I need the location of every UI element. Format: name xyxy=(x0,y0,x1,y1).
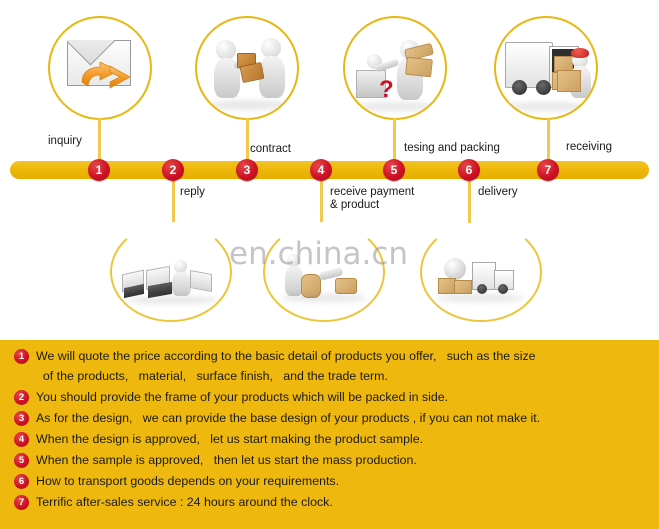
stage-label-contract: contract xyxy=(250,143,291,156)
timeline-marker-3[interactable]: 3 xyxy=(236,159,258,181)
notes-list: 1 We will quote the price according to t… xyxy=(14,346,653,513)
delivery-wheel-2-icon xyxy=(498,284,508,294)
truck-wheel-icon xyxy=(512,80,527,95)
forward-arrow-icon xyxy=(80,62,132,92)
office-worker-body-icon xyxy=(172,272,191,296)
logistics-box-2-icon xyxy=(454,280,472,294)
note-text-1: We will quote the price according to the… xyxy=(36,346,536,386)
note-number-2: 2 xyxy=(14,390,29,405)
figure-shadow xyxy=(355,102,435,111)
note-item: 2 You should provide the frame of your p… xyxy=(14,387,653,407)
process-infographic: ? 1 2 3 4 5 6 7 inquiry contract tesing … xyxy=(0,0,659,529)
stage-circle-delivery-logistics xyxy=(420,222,542,322)
payment-shadow xyxy=(281,294,367,302)
connector-stem-6 xyxy=(468,178,471,226)
timeline-marker-4[interactable]: 4 xyxy=(310,159,332,181)
timeline-marker-6[interactable]: 6 xyxy=(458,159,480,181)
note-item: 5 When the sample is approved, then let … xyxy=(14,450,653,470)
note-number-5: 5 xyxy=(14,453,29,468)
stage-label-delivery: delivery xyxy=(478,186,518,199)
connector-stem-3 xyxy=(246,118,249,163)
note-text-6: How to transport goods depends on your r… xyxy=(36,471,339,491)
stage-circle-testing-packing: ? xyxy=(343,16,447,120)
stage-label-receiving: receiving xyxy=(566,141,612,154)
stage-circle-receiving xyxy=(494,16,598,120)
timeline-marker-2[interactable]: 2 xyxy=(162,159,184,181)
office-shadow xyxy=(126,296,218,304)
packed-goods-2-icon xyxy=(405,57,433,78)
product-box-icon xyxy=(335,278,357,294)
stage-label-reply: reply xyxy=(180,186,205,199)
connector-stem-5 xyxy=(393,118,396,163)
worker-carry-box-icon xyxy=(557,70,581,92)
office-laptop-3-icon xyxy=(190,270,212,292)
truck-wheel-2-icon xyxy=(536,80,551,95)
note-text-7: Terrific after-sales service : 24 hours … xyxy=(36,492,333,512)
timeline-marker-5[interactable]: 5 xyxy=(383,159,405,181)
stage-label-receive-payment: receive payment & product xyxy=(330,186,414,212)
figure-shadow xyxy=(209,100,287,110)
note-item: 3 As for the design, we can provide the … xyxy=(14,408,653,428)
connector-stem-1 xyxy=(98,118,101,163)
note-item: 7 Terrific after-sales service : 24 hour… xyxy=(14,492,653,512)
watermark: en.china.cn xyxy=(229,236,408,272)
stage-circle-inquiry xyxy=(48,16,152,120)
delivery-wheel-icon xyxy=(477,284,487,294)
note-number-1: 1 xyxy=(14,349,29,364)
connector-stem-4 xyxy=(320,178,323,226)
delivery-shadow xyxy=(436,294,524,302)
stage-label-testing-and-packing: tesing and packing xyxy=(404,142,500,155)
note-number-6: 6 xyxy=(14,474,29,489)
question-mark-icon: ? xyxy=(379,76,394,104)
timeline-marker-7[interactable]: 7 xyxy=(537,159,559,181)
timeline-marker-1[interactable]: 1 xyxy=(88,159,110,181)
note-text-5: When the sample is approved, then let us… xyxy=(36,450,417,470)
figure-right-head-icon xyxy=(261,38,281,58)
globe-icon xyxy=(444,258,466,280)
note-item: 6 How to transport goods depends on your… xyxy=(14,471,653,491)
truck-shadow xyxy=(505,102,589,111)
note-number-7: 7 xyxy=(14,495,29,510)
note-number-3: 3 xyxy=(14,411,29,426)
note-item: 4 When the design is approved, let us st… xyxy=(14,429,653,449)
figure-left-head-icon xyxy=(216,40,236,60)
stage-circle-reply-office xyxy=(110,222,232,322)
connector-stem-7 xyxy=(547,118,550,163)
stage-label-inquiry: inquiry xyxy=(48,135,82,148)
red-cap-icon xyxy=(571,48,589,58)
note-text-2: You should provide the frame of your pro… xyxy=(36,387,448,407)
connector-stem-2 xyxy=(172,178,175,226)
stage-circle-contract xyxy=(195,16,299,120)
note-item: 1 We will quote the price according to t… xyxy=(14,346,653,386)
note-text-4: When the design is approved, let us star… xyxy=(36,429,423,449)
note-number-4: 4 xyxy=(14,432,29,447)
notes-panel: 1 We will quote the price according to t… xyxy=(0,340,659,529)
note-text-3: As for the design, we can provide the ba… xyxy=(36,408,540,428)
